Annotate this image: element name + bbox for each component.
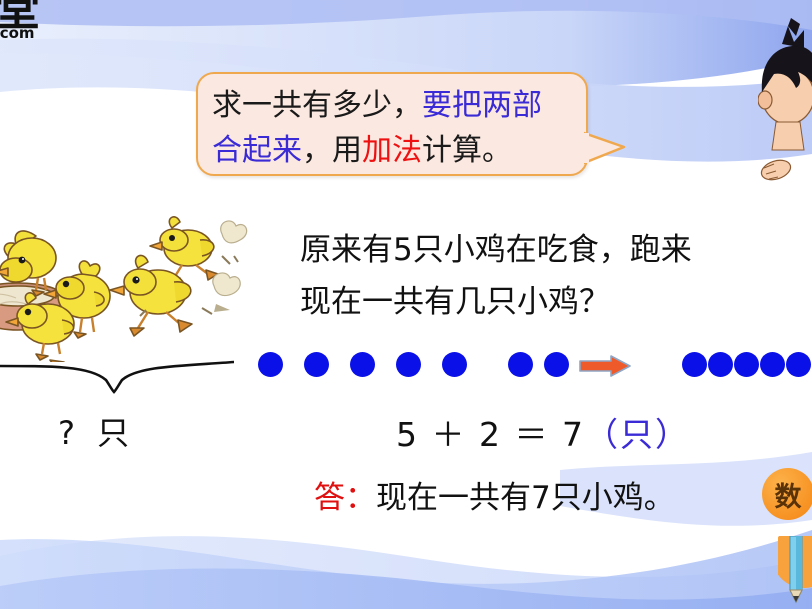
- bubble-text-red: 加法: [362, 133, 422, 168]
- problem-line-2: 现在一共有几只小鸡？: [300, 276, 812, 328]
- dot-group-original: [258, 352, 283, 377]
- answer-line: 答：现在一共有7只小鸡。: [314, 472, 675, 517]
- answer-text: 现在一共有7只小鸡。: [376, 480, 675, 516]
- right-arrow-icon: [579, 355, 631, 377]
- grouping-brace: [0, 360, 234, 394]
- bubble-text-plain-3: 计算。: [422, 133, 512, 168]
- bubble-text-blue-1: 要把两部: [422, 88, 542, 123]
- watermark-domain: .com: [0, 26, 64, 41]
- dot-group-arrived: [508, 352, 533, 377]
- dot-group-total: [708, 352, 733, 377]
- dot-group-original: [396, 352, 421, 377]
- problem-statement: 原来有5只小鸡在吃食，跑来 现在一共有几只小鸡？: [300, 224, 812, 328]
- dot-group-original: [442, 352, 467, 377]
- bubble-text-plain-1: 求一共有多少，: [212, 88, 422, 123]
- badge-char: 数: [775, 475, 802, 514]
- equation-unit: （只）: [585, 415, 690, 454]
- bubble-line-2: 合起来，用加法计算。: [212, 128, 572, 173]
- bubble-text-blue-2: 合起来: [212, 133, 302, 168]
- pencil-icon: [778, 536, 812, 609]
- cartoon-student: [758, 18, 812, 218]
- dot-group-original: [350, 352, 375, 377]
- dot-group-arrived: [544, 352, 569, 377]
- brace-label: ? 只: [58, 408, 135, 454]
- dot-group-total: [682, 352, 707, 377]
- dot-group-original: [304, 352, 329, 377]
- equation-expression: 5 ＋ 2 ＝ 7: [396, 415, 585, 454]
- bubble-text-plain-2: ，用: [302, 133, 362, 168]
- bubble-line-1: 求一共有多少，要把两部: [212, 83, 572, 128]
- dot-group-total: [734, 352, 759, 377]
- math-badge: 数: [762, 468, 812, 520]
- teacher-speech-bubble: 求一共有多少，要把两部 合起来，用加法计算。: [196, 72, 588, 176]
- equation-line: 5 ＋ 2 ＝ 7（只）: [396, 408, 690, 456]
- answer-label: 答：: [314, 480, 376, 516]
- speech-bubble-tail: [584, 131, 626, 165]
- dot-model-row: [258, 352, 812, 386]
- dot-group-total: [760, 352, 785, 377]
- chicks-illustration: [0, 212, 256, 362]
- problem-line-1: 原来有5只小鸡在吃食，跑来: [300, 224, 812, 276]
- site-watermark: 堂 .com: [0, 0, 64, 48]
- dot-group-total: [786, 352, 811, 377]
- slide-canvas: 堂 .com 求一共有多少，要把两部 合起来，用加法计算。: [0, 0, 812, 609]
